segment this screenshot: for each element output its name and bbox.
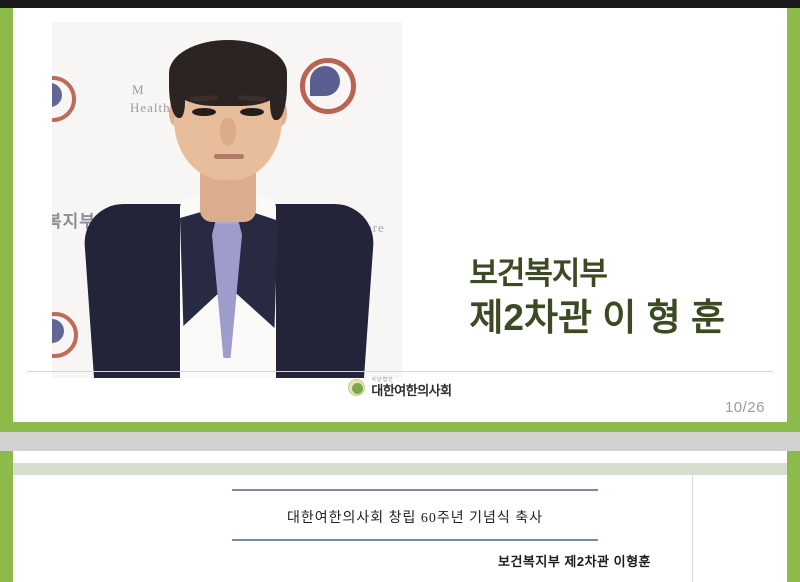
document-title: 대한여한의사회 창립 60주년 기념식 축사 (232, 507, 598, 527)
slide-2-content: 대한여한의사회 창립 60주년 기념식 축사 보건복지부 제2차관 이형훈 (13, 451, 787, 582)
hair-side-left (169, 64, 185, 118)
document-signature: 보건복지부 제2차관 이형훈 (498, 551, 651, 570)
page-number: 10/26 (725, 399, 765, 416)
slide-title-block: 보건복지부 제2차관 이 형 훈 (469, 256, 725, 340)
window-top-bar (0, 0, 800, 8)
slide-2[interactable]: 대한여한의사회 창립 60주년 기념식 축사 보건복지부 제2차관 이형훈 (0, 451, 800, 582)
document-top-band (13, 463, 787, 475)
slide-gap (0, 432, 800, 451)
mouth (214, 154, 244, 159)
screenshot-viewport: M Health 복지부 of Welfare (0, 0, 800, 582)
eye-right (240, 108, 264, 116)
footer-logo-name: 대한여한의사회 (371, 384, 451, 397)
slide-1[interactable]: M Health 복지부 of Welfare (0, 8, 800, 432)
document-rule-bottom (232, 539, 598, 541)
person-figure (52, 22, 402, 378)
footer-logo: 사단법인 대한여한의사회 (13, 378, 787, 397)
slide-title-name: 제2차관 이 형 훈 (469, 296, 725, 340)
document-vertical-rule (692, 475, 693, 582)
nose (220, 118, 236, 146)
portrait-photo: M Health 복지부 of Welfare (52, 22, 402, 378)
association-emblem-icon (348, 379, 365, 396)
slide-1-content: M Health 복지부 of Welfare (13, 8, 787, 422)
document-rule-top (232, 489, 598, 491)
footer-logo-texts: 사단법인 대한여한의사회 (371, 378, 451, 397)
eye-left (192, 108, 216, 116)
slide-title-organization: 보건복지부 (469, 256, 725, 292)
footer-divider (27, 371, 773, 372)
